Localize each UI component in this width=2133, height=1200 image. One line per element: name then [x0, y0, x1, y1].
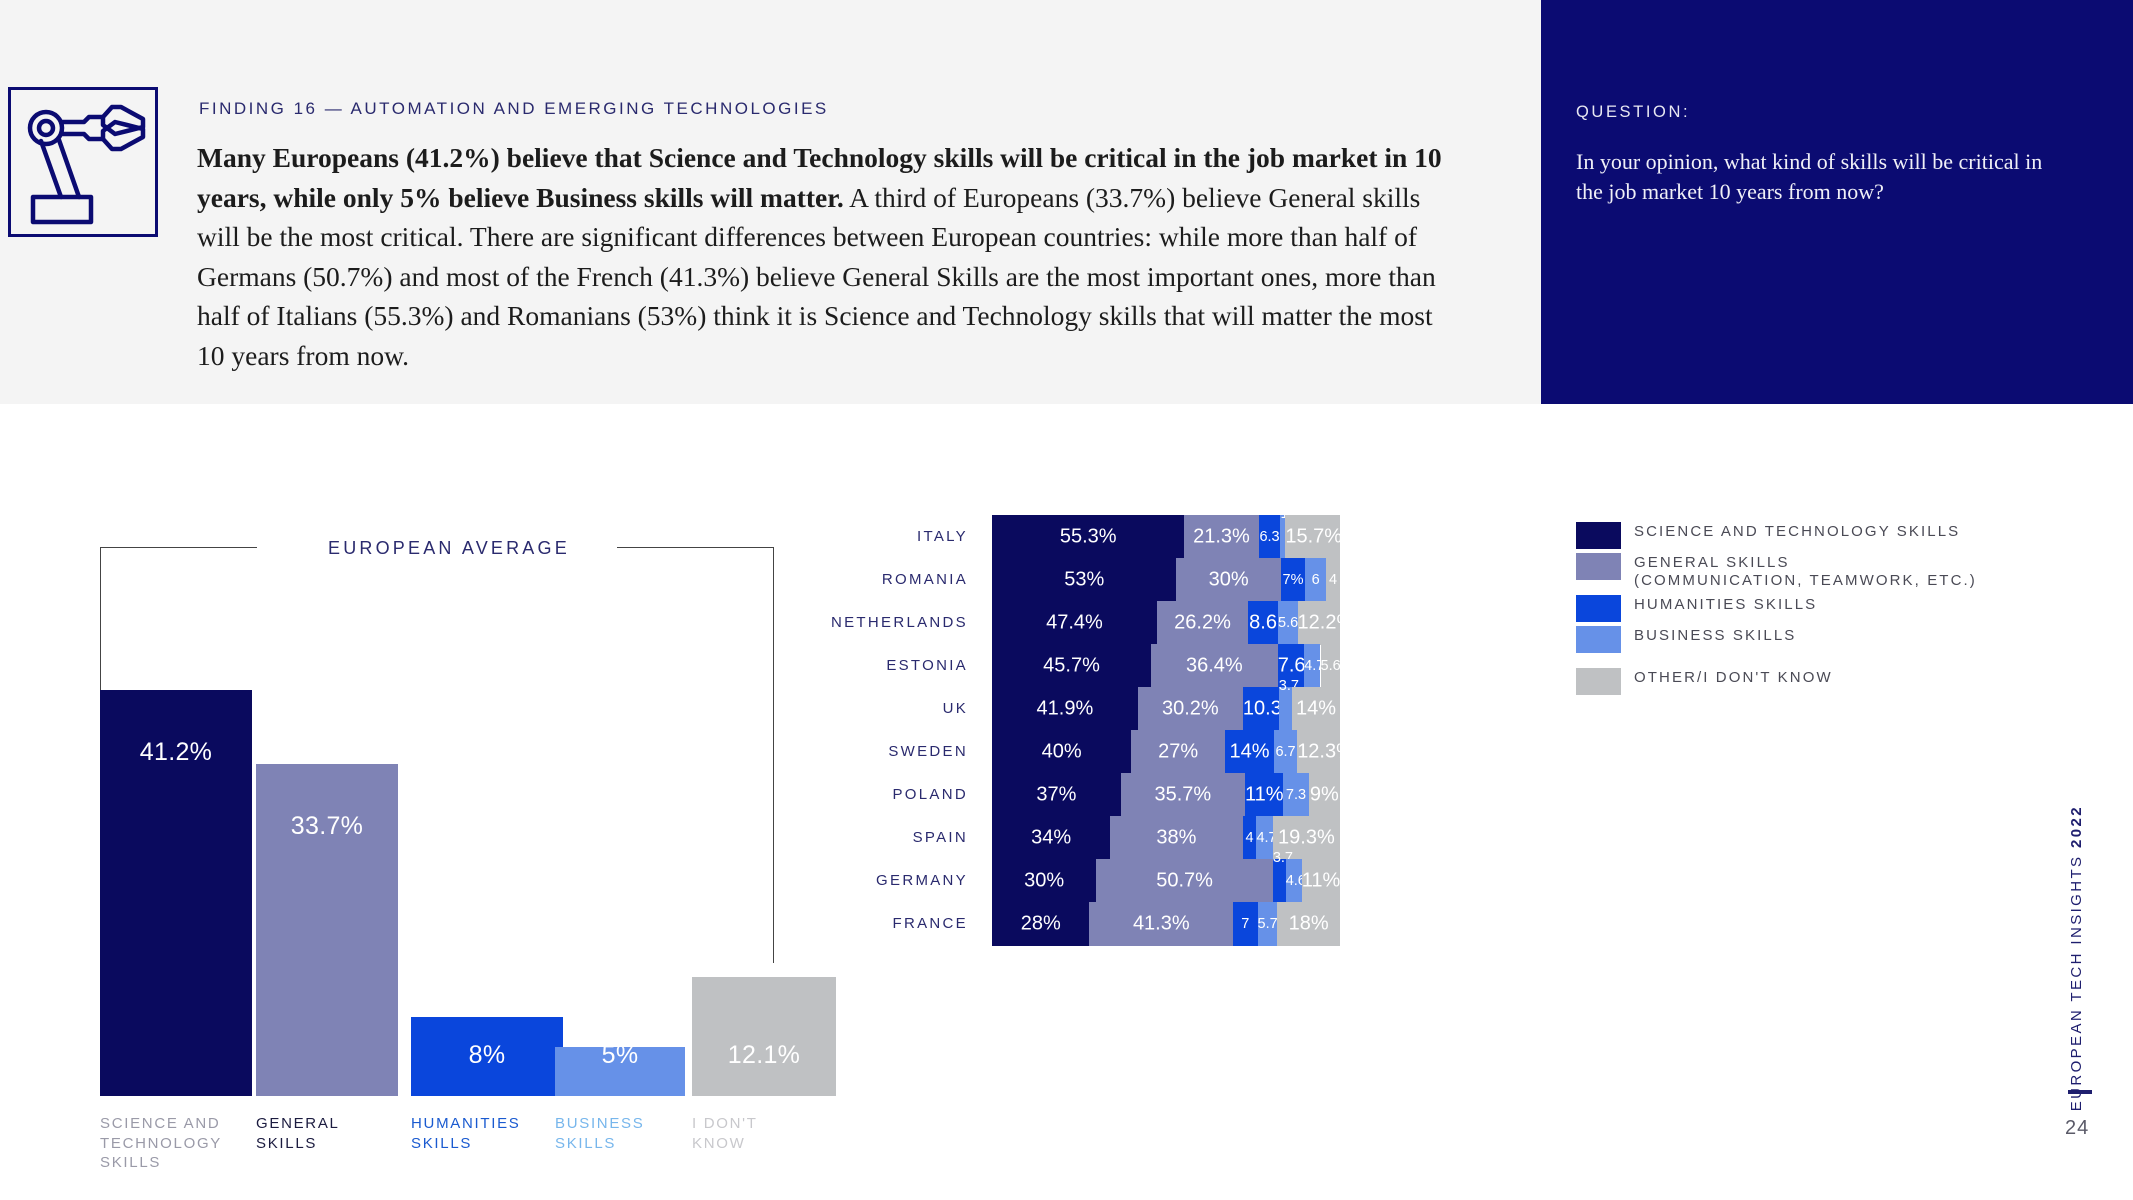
finding-body: Many Europeans (41.2%) believe that Scie…	[197, 138, 1442, 375]
legend-row: SCIENCE AND TECHNOLOGY SKILLS	[1576, 522, 2056, 553]
legend-swatch	[1576, 595, 1621, 622]
stacked-segments: 55.3%21.3%6.31.415.7%	[992, 515, 1340, 559]
segment-value-label: 21.3%	[1184, 526, 1258, 549]
segment-value-label: 5.6	[1321, 658, 1340, 674]
stacked-bar-row: FRANCE28%41.3%75.718%	[820, 902, 1520, 946]
stacked-segment-4: 7.3	[1283, 773, 1308, 817]
segment-value-label: 8.6	[1248, 612, 1278, 635]
axis-label-1: SCIENCE ANDTECHNOLOGYSKILLS	[100, 1114, 222, 1173]
bar-3: 8%	[411, 1017, 563, 1096]
segment-value-label: 26.2%	[1157, 612, 1248, 635]
segment-value-label: 7%	[1281, 572, 1305, 588]
country-label: GERMANY	[820, 872, 968, 889]
stacked-segment-1: 40%	[992, 730, 1131, 774]
bracket-line-top-left	[100, 547, 257, 548]
country-label: ESTONIA	[820, 657, 968, 674]
legend-swatch	[1576, 522, 1621, 549]
legend-swatch	[1576, 668, 1621, 695]
stacked-segment-4: 6	[1305, 558, 1326, 602]
stacked-segment-3: 8.6	[1248, 601, 1278, 645]
country-stacked-bar-chart: ITALY55.3%21.3%6.31.415.7%ROMANIA53%30%7…	[820, 515, 1520, 1115]
segment-value-label: 19.3%	[1273, 827, 1340, 850]
stacked-segment-4: 4.7	[1256, 816, 1272, 860]
legend-row: GENERAL SKILLS(COMMUNICATION, TEAMWORK, …	[1576, 553, 2056, 595]
bar-value-label: 12.1%	[692, 1041, 836, 1070]
segment-value-label: 4	[1243, 830, 1257, 846]
robot-arm-icon	[8, 87, 158, 237]
stacked-segment-3: 4	[1243, 816, 1257, 860]
stacked-segment-1: 34%	[992, 816, 1110, 860]
segment-value-label: 6.3	[1259, 529, 1281, 545]
segment-value-label: 9%	[1309, 784, 1340, 807]
stacked-segment-4: 3.7	[1279, 687, 1292, 731]
segment-value-label: 30%	[1176, 569, 1280, 592]
stacked-segment-3: 11%	[1245, 773, 1283, 817]
european-average-title: EUROPEAN AVERAGE	[328, 538, 548, 559]
stacked-segment-1: 45.7%	[992, 644, 1151, 688]
bar-value-label: 41.2%	[100, 738, 252, 767]
segment-value-label: 27%	[1131, 741, 1225, 764]
segment-value-label: 34%	[992, 827, 1110, 850]
segment-value-label: 50.7%	[1096, 870, 1272, 893]
stacked-segment-2: 41.3%	[1089, 902, 1233, 946]
stacked-bar-row: ITALY55.3%21.3%6.31.415.7%	[820, 515, 1520, 559]
segment-value-label: 3.7	[1273, 850, 1286, 866]
segment-value-label: 12.3%	[1297, 741, 1340, 764]
chart-legend: SCIENCE AND TECHNOLOGY SKILLSGENERAL SKI…	[1576, 522, 2056, 699]
stacked-segment-4: 6.7	[1274, 730, 1297, 774]
segment-value-label: 5.6	[1278, 615, 1297, 631]
segment-value-label: 28%	[992, 913, 1089, 936]
segment-value-label: 4	[1326, 572, 1340, 588]
stacked-segment-3: 6.3	[1259, 515, 1281, 559]
country-label: ROMANIA	[820, 571, 968, 588]
segment-value-label: 15.7%	[1285, 526, 1340, 549]
legend-label: SCIENCE AND TECHNOLOGY SKILLS	[1634, 523, 1960, 541]
segment-value-label: 11%	[1302, 870, 1340, 893]
page-number: 24	[2065, 1117, 2089, 1140]
bracket-line-top-right	[617, 547, 774, 548]
stacked-bar-row: UK41.9%30.2%10.33.714%	[820, 687, 1520, 731]
stacked-segments: 47.4%26.2%8.65.612.2%	[992, 601, 1340, 645]
stacked-segment-3: 3.7	[1273, 859, 1286, 903]
slide-page: FINDING 16 — AUTOMATION AND EMERGING TEC…	[0, 0, 2133, 1200]
legend-row: BUSINESS SKILLS	[1576, 626, 2056, 668]
axis-label-2: GENERALSKILLS	[256, 1114, 340, 1153]
stacked-segment-5: 14%	[1292, 687, 1341, 731]
stacked-segment-5: 15.7%	[1285, 515, 1340, 559]
segment-value-label: 5.7	[1258, 916, 1278, 932]
stacked-segment-2: 27%	[1131, 730, 1225, 774]
segment-value-label: 6	[1305, 572, 1326, 588]
segment-value-label: 12.2%	[1298, 612, 1340, 635]
country-label: FRANCE	[820, 915, 968, 932]
segment-value-label: 30%	[992, 870, 1096, 893]
country-label: POLAND	[820, 786, 968, 803]
segment-value-label: 36.4%	[1151, 655, 1278, 678]
segment-value-label: 45.7%	[992, 655, 1151, 678]
country-label: ITALY	[820, 528, 968, 545]
legend-row: OTHER/I DON'T KNOW	[1576, 668, 2056, 699]
stacked-segment-1: 55.3%	[992, 515, 1184, 559]
report-title-vertical: EUROPEAN TECH INSIGHTS 2022	[2068, 805, 2085, 1111]
segment-value-label: 14%	[1292, 698, 1341, 721]
stacked-segment-5: 12.2%	[1298, 601, 1340, 645]
stacked-bar-row: NETHERLANDS47.4%26.2%8.65.612.2%	[820, 601, 1520, 645]
stacked-segment-2: 35.7%	[1121, 773, 1245, 817]
finding-kicker: FINDING 16 — AUTOMATION AND EMERGING TEC…	[199, 99, 829, 119]
stacked-segment-3: 10.3	[1243, 687, 1279, 731]
bar-5: 12.1%	[692, 977, 836, 1096]
stacked-segment-2: 38%	[1110, 816, 1242, 860]
stacked-segment-2: 21.3%	[1184, 515, 1258, 559]
stacked-segment-4: 5.6	[1278, 601, 1297, 645]
stacked-segments: 41.9%30.2%10.33.714%	[992, 687, 1340, 731]
stacked-bar-row: ESTONIA45.7%36.4%7.64.75.6	[820, 644, 1520, 688]
stacked-segments: 30%50.7%3.74.611%	[992, 859, 1340, 903]
segment-value-label: 47.4%	[992, 612, 1157, 635]
question-text: In your opinion, what kind of skills wil…	[1576, 147, 2066, 207]
stacked-segment-1: 53%	[992, 558, 1176, 602]
segment-value-label: 7	[1233, 916, 1257, 932]
bar-value-label: 5%	[555, 1041, 685, 1070]
stacked-bar-row: ROMANIA53%30%7%64	[820, 558, 1520, 602]
stacked-segment-1: 37%	[992, 773, 1121, 817]
stacked-bar-row: SWEDEN40%27%14%6.712.3%	[820, 730, 1520, 774]
stacked-segment-1: 41.9%	[992, 687, 1138, 731]
stacked-segments: 28%41.3%75.718%	[992, 902, 1340, 946]
segment-value-label: 53%	[992, 569, 1176, 592]
axis-label-4: BUSINESSSKILLS	[555, 1114, 644, 1153]
segment-value-label: 55.3%	[992, 526, 1184, 549]
bar-value-label: 33.7%	[256, 812, 398, 841]
stacked-bar-row: POLAND37%35.7%11%7.39%	[820, 773, 1520, 817]
bar-chart-axis-labels: SCIENCE ANDTECHNOLOGYSKILLSGENERALSKILLS…	[100, 1114, 800, 1184]
stacked-segment-5: 5.6	[1321, 644, 1340, 688]
stacked-segments: 40%27%14%6.712.3%	[992, 730, 1340, 774]
legend-label: OTHER/I DON'T KNOW	[1634, 669, 1833, 687]
legend-swatch	[1576, 626, 1621, 653]
segment-value-label: 7.6	[1278, 655, 1304, 678]
stacked-segment-4: 4.6	[1286, 859, 1302, 903]
bracket-line-left	[100, 547, 101, 690]
report-title-prefix: EUROPEAN TECH INSIGHTS	[2068, 848, 2085, 1111]
stacked-segments: 37%35.7%11%7.39%	[992, 773, 1340, 817]
axis-label-5: I DON'T KNOW	[692, 1114, 800, 1153]
legend-label: BUSINESS SKILLS	[1634, 627, 1796, 645]
segment-value-label: 11%	[1245, 784, 1283, 807]
stacked-segment-2: 36.4%	[1151, 644, 1278, 688]
stacked-bar-row: GERMANY30%50.7%3.74.611%	[820, 859, 1520, 903]
segment-value-label: 14%	[1225, 741, 1274, 764]
bar-1: 41.2%	[100, 690, 252, 1096]
stacked-segment-1: 28%	[992, 902, 1089, 946]
legend-row: HUMANITIES SKILLS	[1576, 595, 2056, 626]
country-label: NETHERLANDS	[820, 614, 968, 631]
segment-value-label: 10.3	[1243, 698, 1279, 721]
segment-value-label: 41.3%	[1089, 913, 1233, 936]
stacked-bar-row: SPAIN34%38%44.719.3%	[820, 816, 1520, 860]
bar-2: 33.7%	[256, 764, 398, 1096]
legend-label: GENERAL SKILLS(COMMUNICATION, TEAMWORK, …	[1634, 554, 1977, 589]
stacked-segment-4: 5.7	[1258, 902, 1278, 946]
stacked-segment-5: 9%	[1309, 773, 1340, 817]
stacked-segment-5: 18%	[1277, 902, 1340, 946]
stacked-segment-2: 26.2%	[1157, 601, 1248, 645]
axis-label-3: HUMANITIESSKILLS	[411, 1114, 521, 1153]
stacked-segment-2: 30%	[1176, 558, 1280, 602]
segment-value-label: 3.7	[1279, 678, 1292, 694]
segment-value-label: 4.7	[1256, 830, 1272, 846]
bar-4: 5%	[555, 1047, 685, 1096]
stacked-segment-5: 11%	[1302, 859, 1340, 903]
country-label: SWEDEN	[820, 743, 968, 760]
stacked-segment-4: 4.7	[1304, 644, 1320, 688]
segment-value-label: 41.9%	[992, 698, 1138, 721]
stacked-segment-5: 12.3%	[1297, 730, 1340, 774]
stacked-segment-2: 50.7%	[1096, 859, 1272, 903]
stacked-segment-2: 30.2%	[1138, 687, 1243, 731]
segment-value-label: 37%	[992, 784, 1121, 807]
rail-dash	[2068, 1090, 2092, 1094]
country-label: SPAIN	[820, 829, 968, 846]
stacked-segment-3: 7%	[1281, 558, 1305, 602]
legend-label: HUMANITIES SKILLS	[1634, 596, 1817, 614]
segment-value-label: 35.7%	[1121, 784, 1245, 807]
stacked-segment-3: 14%	[1225, 730, 1274, 774]
stacked-segment-3: 7	[1233, 902, 1257, 946]
segment-value-label: 6.7	[1274, 744, 1297, 760]
european-average-bar-chart: 41.2%33.7%8%5%12.1%	[100, 690, 775, 1096]
segment-value-label: 7.3	[1283, 787, 1308, 803]
stacked-segment-1: 47.4%	[992, 601, 1157, 645]
report-year: 2022	[2068, 805, 2085, 848]
country-label: UK	[820, 700, 968, 717]
question-label: QUESTION:	[1576, 103, 1690, 122]
segment-value-label: 30.2%	[1138, 698, 1243, 721]
segment-value-label: 4.7	[1304, 658, 1320, 674]
segment-value-label: 40%	[992, 741, 1131, 764]
stacked-segment-1: 30%	[992, 859, 1096, 903]
stacked-segments: 53%30%7%64	[992, 558, 1340, 602]
segment-value-label: 4.6	[1286, 873, 1302, 889]
segment-value-label: 38%	[1110, 827, 1242, 850]
stacked-segment-5: 4	[1326, 558, 1340, 602]
segment-value-label: 18%	[1277, 913, 1340, 936]
bar-value-label: 8%	[411, 1041, 563, 1070]
legend-swatch	[1576, 553, 1621, 580]
